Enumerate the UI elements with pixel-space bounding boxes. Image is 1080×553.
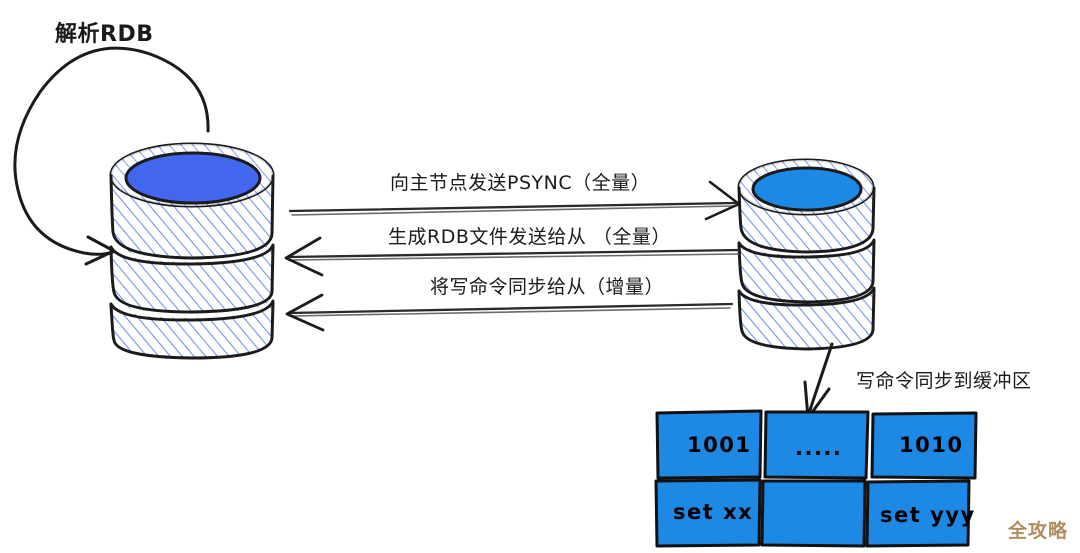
arrow-rdb-file-label: 生成RDB文件发送给从 （全量）	[388, 222, 671, 249]
buffer-cell-text-1-0: set xx	[673, 500, 753, 524]
parse-rdb-label: 解析RDB	[55, 16, 153, 48]
slave-database-cylinder	[111, 144, 273, 358]
buffer-cell-text-0-1: .....	[795, 436, 842, 460]
diagram-canvas: 解析RDB 向主节点发送PSYNC（全量） 生成RDB文件发送给从 （全量） 将…	[0, 0, 1080, 553]
arrow-buffer-sync	[805, 344, 832, 418]
buffer-cell-text-0-0: 1001	[687, 433, 751, 457]
buffer-cell-text-0-2: 1010	[899, 433, 963, 457]
master-cylinder-top-disc	[753, 168, 861, 210]
arrow-write-commands-label: 将写命令同步给从（增量）	[430, 272, 664, 299]
buffer-cell-1-1	[762, 481, 865, 546]
arrow-psync-head	[706, 182, 739, 219]
buffer-cell-text-1-2: set yyy	[880, 503, 976, 527]
slave-cylinder-top-disc	[126, 153, 260, 203]
arrow-write-commands	[287, 295, 732, 330]
arrow-psync-label: 向主节点发送PSYNC（全量）	[390, 168, 650, 195]
watermark: 全攻略	[1008, 516, 1068, 543]
master-database-cylinder	[739, 160, 874, 349]
buffer-sync-label: 写命令同步到缓冲区	[856, 366, 1032, 393]
